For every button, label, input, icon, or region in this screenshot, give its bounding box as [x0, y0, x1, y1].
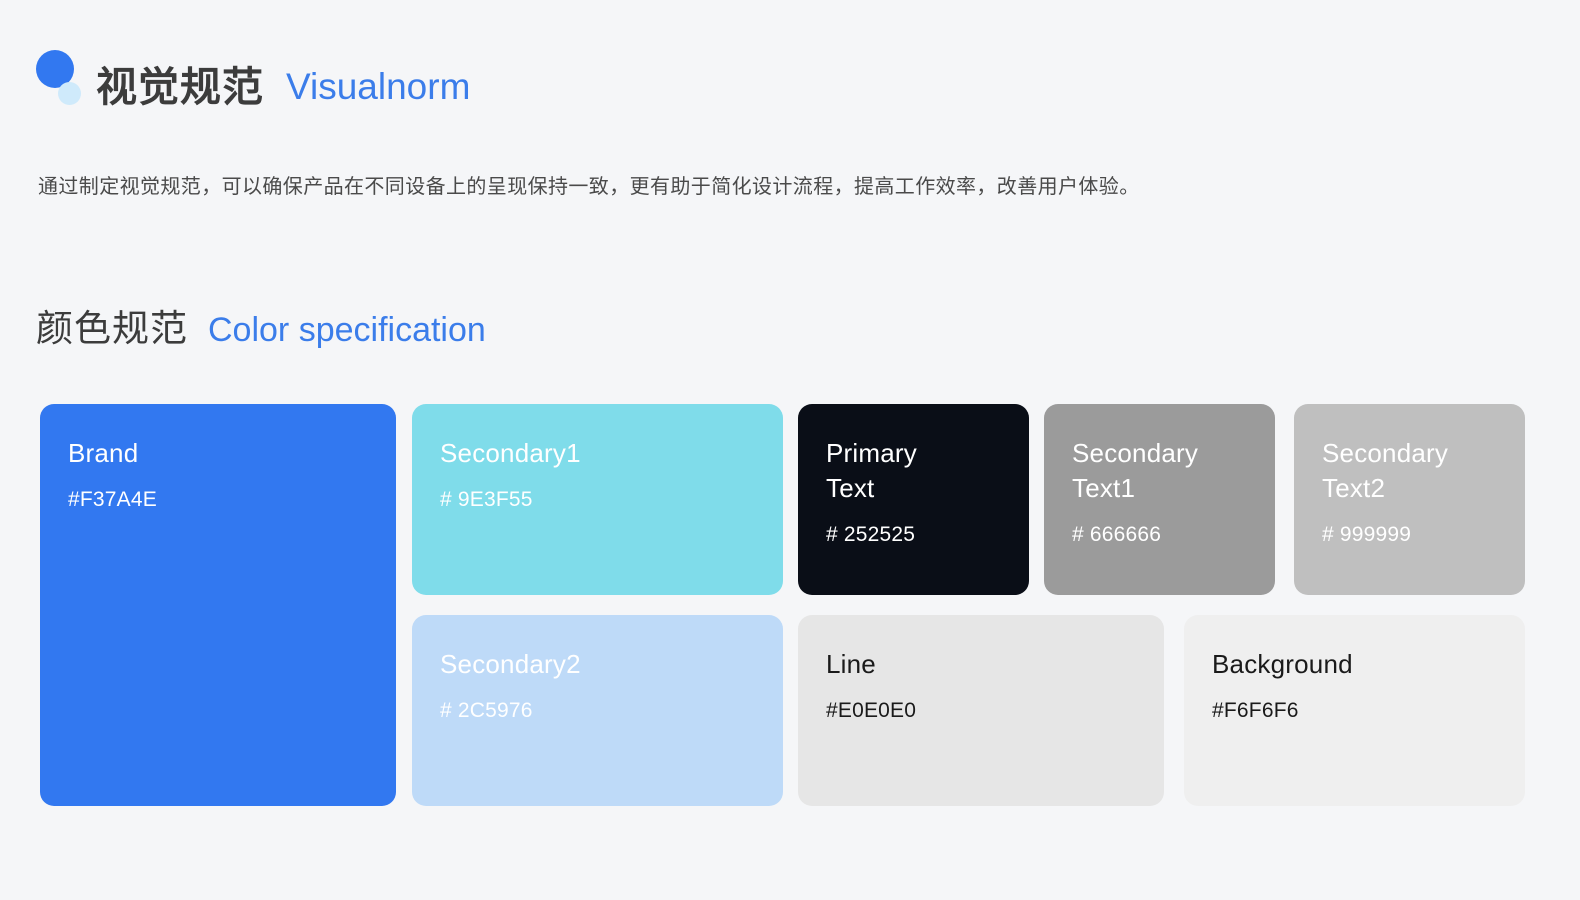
swatch-hex: # 252525 — [826, 520, 1001, 550]
swatch-hex: # 9E3F55 — [440, 485, 755, 515]
color-swatch-secondary-text1[interactable]: Secondary Text1 # 666666 — [1044, 404, 1275, 595]
color-swatch-brand[interactable]: Brand #F37A4E — [40, 404, 396, 806]
swatch-hex: #F6F6F6 — [1212, 696, 1497, 726]
swatch-name: Secondary1 — [440, 436, 755, 471]
swatch-name: Background — [1212, 647, 1497, 682]
swatch-name: Secondary Text2 — [1322, 436, 1462, 506]
color-swatch-primary-text[interactable]: Primary Text # 252525 — [798, 404, 1029, 595]
section-heading-cn: 颜色规范 — [36, 298, 188, 352]
page-title-en: Visualnorm — [286, 64, 470, 110]
color-swatch-background[interactable]: Background #F6F6F6 — [1184, 615, 1525, 806]
circle-small-icon — [58, 82, 81, 105]
color-swatch-secondary-text2[interactable]: Secondary Text2 # 999999 — [1294, 404, 1525, 595]
swatch-name: Brand — [68, 436, 368, 471]
page-header: 视觉规范 Visualnorm — [36, 48, 470, 110]
brand-logo — [36, 48, 94, 110]
visual-spec-page: 视觉规范 Visualnorm 通过制定视觉规范，可以确保产品在不同设备上的呈现… — [0, 0, 1580, 900]
swatch-name: Primary Text — [826, 436, 966, 506]
color-swatch-secondary2[interactable]: Secondary2 # 2C5976 — [412, 615, 783, 806]
page-title-cn: 视觉规范 — [96, 64, 264, 110]
swatch-name: Secondary Text1 — [1072, 436, 1212, 506]
swatch-hex: #E0E0E0 — [826, 696, 1136, 726]
swatch-hex: #F37A4E — [68, 485, 368, 515]
swatch-name: Secondary2 — [440, 647, 755, 682]
color-swatch-secondary1[interactable]: Secondary1 # 9E3F55 — [412, 404, 783, 595]
section-heading-en: Color specification — [208, 311, 486, 350]
color-swatch-line[interactable]: Line #E0E0E0 — [798, 615, 1164, 806]
intro-paragraph: 通过制定视觉规范，可以确保产品在不同设备上的呈现保持一致，更有助于简化设计流程，… — [38, 163, 1498, 211]
section-heading: 颜色规范 Color specification — [36, 298, 486, 352]
swatch-name: Line — [826, 647, 1136, 682]
swatch-hex: # 666666 — [1072, 520, 1247, 550]
swatch-hex: # 2C5976 — [440, 696, 755, 726]
swatch-hex: # 999999 — [1322, 520, 1497, 550]
